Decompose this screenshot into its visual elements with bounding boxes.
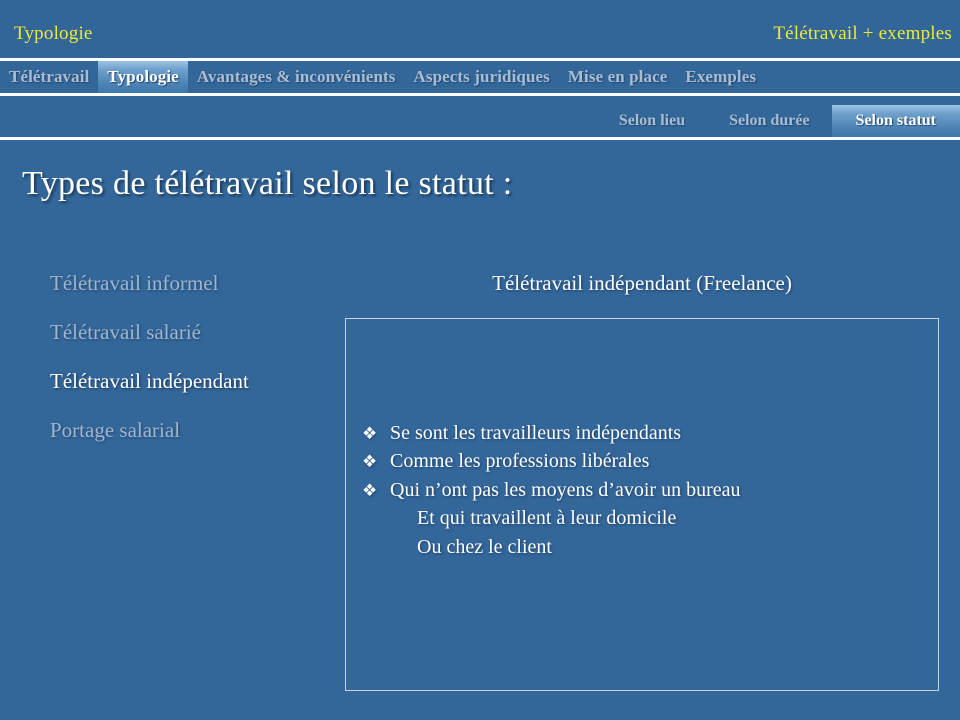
- nav-item-avantages-inconvenients[interactable]: Avantages & inconvénients: [188, 61, 405, 93]
- diamond-bullet-icon: ❖: [362, 422, 390, 446]
- nav-item-label: Typologie: [107, 67, 178, 87]
- nav-item-mise-en-place[interactable]: Mise en place: [559, 61, 677, 93]
- bullet-item: ❖ Se sont les travailleurs indépendants: [362, 419, 928, 447]
- nav-item-label: Télétravail: [9, 67, 89, 87]
- nav-item-teletravail[interactable]: Télétravail: [0, 61, 98, 93]
- bullet-text: Comme les professions libérales: [390, 447, 649, 475]
- bullet-text: Ou chez le client: [417, 533, 552, 561]
- status-type-list: Télétravail informel Télétravail salarié…: [50, 273, 340, 469]
- subnav-divider-bottom: [0, 137, 960, 140]
- bullet-item: ❖ Comme les professions libérales: [362, 447, 928, 475]
- list-item-teletravail-informel[interactable]: Télétravail informel: [50, 273, 340, 294]
- main-navigation: Télétravail Typologie Avantages & inconv…: [0, 61, 960, 93]
- subnav-item-selon-statut[interactable]: Selon statut: [832, 105, 960, 137]
- subnav-item-label: Selon durée: [729, 112, 809, 130]
- nav-item-exemples[interactable]: Exemples: [676, 61, 765, 93]
- content-panel-heading: Télétravail indépendant (Freelance): [345, 273, 939, 294]
- list-item-teletravail-independant[interactable]: Télétravail indépendant: [50, 371, 340, 392]
- subnav-item-selon-lieu[interactable]: Selon lieu: [597, 105, 707, 137]
- list-item-label: Télétravail indépendant: [50, 369, 249, 393]
- bullet-subitem: Ou chez le client: [362, 533, 928, 561]
- nav-item-label: Exemples: [685, 67, 756, 87]
- list-item-label: Télétravail salarié: [50, 320, 201, 344]
- list-item-portage-salarial[interactable]: Portage salarial: [50, 420, 340, 441]
- subnav-item-selon-duree[interactable]: Selon durée: [707, 105, 831, 137]
- subnav-item-label: Selon lieu: [619, 112, 685, 130]
- list-item-label: Télétravail informel: [50, 271, 219, 295]
- bullet-subitem: Et qui travaillent à leur domicile: [362, 504, 928, 532]
- bullet-list: ❖ Se sont les travailleurs indépendants …: [362, 419, 928, 561]
- slide-header: Typologie Télétravail + exemples: [0, 0, 960, 58]
- bullet-text: Qui n’ont pas les moyens d’avoir un bure…: [390, 476, 740, 504]
- header-section-label: Typologie: [14, 24, 93, 43]
- diamond-bullet-icon: ❖: [362, 450, 390, 474]
- list-item-teletravail-salarie[interactable]: Télétravail salarié: [50, 322, 340, 343]
- content-panel: ❖ Se sont les travailleurs indépendants …: [345, 318, 939, 691]
- nav-divider-bottom: [0, 93, 960, 96]
- nav-item-aspects-juridiques[interactable]: Aspects juridiques: [404, 61, 558, 93]
- bullet-item: ❖ Qui n’ont pas les moyens d’avoir un bu…: [362, 476, 928, 504]
- diamond-bullet-icon: ❖: [362, 479, 390, 503]
- header-deck-title: Télétravail + exemples: [773, 24, 952, 43]
- nav-item-label: Aspects juridiques: [413, 67, 549, 87]
- bullet-text: Se sont les travailleurs indépendants: [390, 419, 681, 447]
- list-item-label: Portage salarial: [50, 418, 180, 442]
- nav-item-label: Avantages & inconvénients: [197, 67, 396, 87]
- bullet-text: Et qui travaillent à leur domicile: [417, 504, 676, 532]
- sub-navigation: Selon lieu Selon durée Selon statut: [0, 105, 960, 137]
- nav-item-label: Mise en place: [568, 67, 668, 87]
- subnav-item-label: Selon statut: [856, 112, 936, 130]
- nav-item-typologie[interactable]: Typologie: [98, 61, 187, 93]
- page-title: Types de télétravail selon le statut :: [22, 164, 513, 205]
